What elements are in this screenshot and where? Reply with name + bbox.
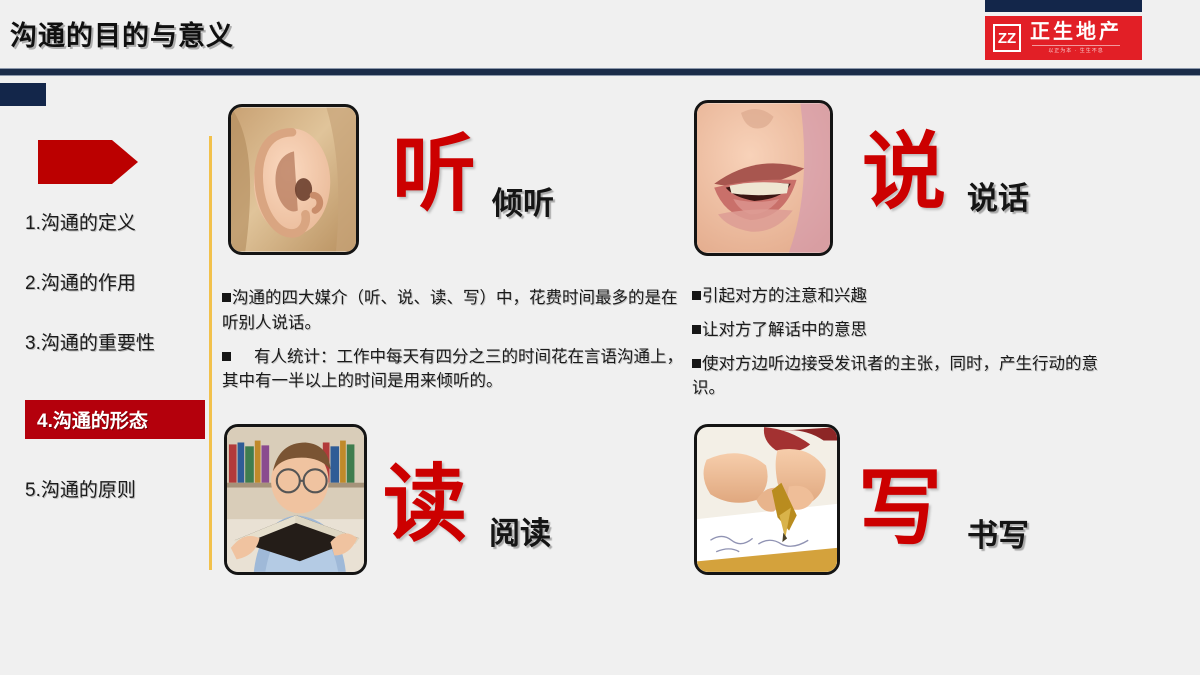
sidebar-nav: 1.沟通的定义 2.沟通的作用 3.沟通的重要性 4.沟通的形态 5.沟通的原则 xyxy=(0,130,208,580)
sidebar-item-4-active[interactable]: 4.沟通的形态 xyxy=(25,400,205,439)
speak-bullet-3-text: 使对方边听边接受发讯者的主张，同时，产生行动的意识。 xyxy=(692,355,1098,398)
mouth-photo xyxy=(694,100,833,256)
write-sub-char: 书写 xyxy=(967,520,1029,551)
listen-bullet-2: 有人统计：工作中每天有四分之三的时间花在言语沟通上，其中有一半以上的时间是用来倾… xyxy=(222,345,687,395)
sidebar-item-3[interactable]: 3.沟通的重要性 xyxy=(25,328,205,355)
write-big-char: 写 xyxy=(858,466,942,550)
hand-writing-photo xyxy=(694,424,840,575)
listen-sub-char: 倾听 xyxy=(492,188,554,219)
speak-big-char: 说 xyxy=(862,130,946,214)
speak-text-block: 引起对方的注意和兴趣 让对方了解话中的意思 使对方边听边接受发讯者的主张，同时，… xyxy=(692,284,1112,401)
logo-bracket-icon: ZZ xyxy=(993,24,1021,52)
sidebar-item-5[interactable]: 5.沟通的原则 xyxy=(25,475,205,502)
logo-top-bar xyxy=(985,0,1142,12)
speak-bullet-1-text: 引起对方的注意和兴趣 xyxy=(702,287,867,305)
header-divider xyxy=(0,68,1200,76)
bullet-square-icon xyxy=(692,291,701,300)
speak-sub-char: 说话 xyxy=(967,183,1029,214)
ear-photo xyxy=(228,104,359,255)
speak-bullet-1: 引起对方的注意和兴趣 xyxy=(692,284,1112,309)
listen-bullet-1-text: 沟通的四大媒介（听、说、读、写）中，花费时间最多的是在听别人说话。 xyxy=(222,289,678,332)
read-big-char: 读 xyxy=(383,462,467,546)
page-title: 沟通的目的与意义 xyxy=(10,14,234,53)
logo-text-group: 正生地产 以正为本 · 生生不息 xyxy=(1030,22,1122,54)
bullet-square-icon xyxy=(692,359,701,368)
logo-company-name: 正生地产 xyxy=(1030,22,1122,43)
read-sub-char: 阅读 xyxy=(489,518,551,549)
listen-text-block: 沟通的四大媒介（听、说、读、写）中，花费时间最多的是在听别人说话。 有人统计：工… xyxy=(222,286,687,394)
company-logo: ZZ 正生地产 以正为本 · 生生不息 xyxy=(985,16,1142,60)
bullet-square-icon xyxy=(222,293,231,302)
sidebar-item-2[interactable]: 2.沟通的作用 xyxy=(25,268,205,295)
speak-bullet-2-text: 让对方了解话中的意思 xyxy=(702,321,867,339)
listen-bullet-2-text: 有人统计：工作中每天有四分之三的时间花在言语沟通上，其中有一半以上的时间是用来倾… xyxy=(222,348,683,391)
listen-big-char: 听 xyxy=(392,132,476,216)
speak-bullet-2: 让对方了解话中的意思 xyxy=(692,318,1112,343)
header-accent-block xyxy=(0,83,46,106)
bullet-square-icon xyxy=(222,352,231,361)
listen-bullet-1: 沟通的四大媒介（听、说、读、写）中，花费时间最多的是在听别人说话。 xyxy=(222,286,687,336)
logo-tagline: 以正为本 · 生生不息 xyxy=(1032,45,1120,54)
arrow-marker-icon xyxy=(38,138,138,186)
speak-bullet-3: 使对方边听边接受发讯者的主张，同时，产生行动的意识。 xyxy=(692,352,1112,402)
sidebar-item-1[interactable]: 1.沟通的定义 xyxy=(25,208,205,235)
vertical-divider xyxy=(209,136,212,570)
boy-reading-photo xyxy=(224,424,367,575)
bullet-square-icon xyxy=(692,325,701,334)
